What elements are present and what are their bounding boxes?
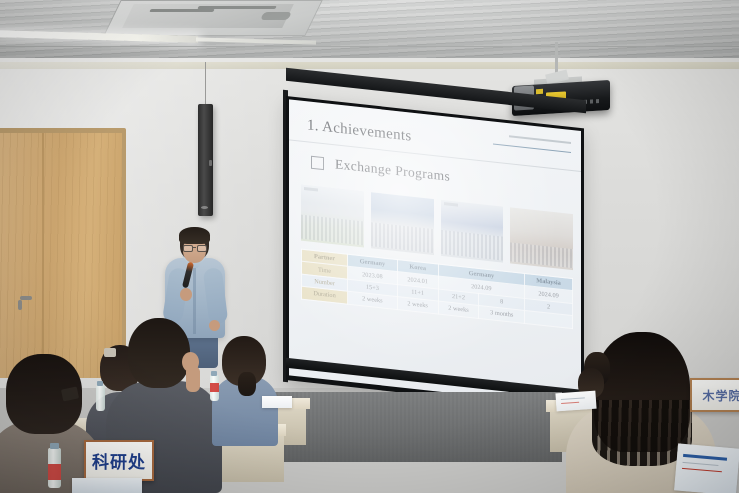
ac-vent — [149, 9, 214, 12]
glasses-bridge — [192, 247, 196, 248]
bottle-label — [48, 464, 61, 480]
slide-content: 1. Achievements Exchange Programs — [289, 99, 581, 407]
audience-forearm — [186, 366, 200, 392]
door-center-seam — [42, 133, 44, 378]
checkbox-icon — [311, 155, 324, 169]
ac-vent — [197, 6, 276, 9]
glasses-right-lens — [197, 245, 207, 252]
bottle-cap — [97, 381, 103, 386]
ceiling-seam — [0, 46, 739, 47]
document-paper[interactable] — [72, 478, 142, 493]
photo-group — [301, 215, 364, 245]
ac-vent — [260, 12, 292, 20]
slide-decoration-line — [509, 135, 571, 144]
slide-photo — [301, 185, 364, 248]
bottle-cap — [211, 371, 217, 376]
slide-title: 1. Achievements — [307, 117, 411, 145]
photo-group — [371, 223, 434, 253]
audience-head — [128, 318, 190, 388]
paper-line — [682, 462, 718, 466]
presenter-right-hand — [209, 320, 220, 331]
document-paper[interactable] — [555, 391, 596, 412]
brochure[interactable] — [674, 443, 739, 493]
door-handle-shaft — [18, 300, 22, 310]
photo-caption-tag — [444, 202, 458, 207]
photo-group — [441, 230, 504, 260]
paper-line — [561, 397, 585, 400]
paper-line — [561, 402, 579, 404]
bottle-label — [210, 383, 219, 392]
nameplate-label: 科研处 — [92, 448, 146, 473]
photo-group — [510, 242, 573, 268]
document-paper[interactable] — [262, 396, 292, 408]
glasses-icon — [183, 245, 205, 250]
hair-clip — [104, 348, 116, 357]
presenter-hair — [179, 227, 210, 244]
slide-accent-line — [493, 143, 571, 152]
speaker-logo — [201, 206, 208, 209]
slide-bullet: Exchange Programs — [311, 154, 450, 185]
speaker-cable — [205, 62, 206, 106]
door-handle[interactable] — [20, 296, 32, 300]
shirt-placket — [193, 262, 196, 334]
door-wood-grain — [0, 133, 122, 378]
slide-photo — [371, 192, 434, 255]
slide-bullet-label: Exchange Programs — [335, 156, 450, 185]
audience-ponytail — [238, 372, 256, 396]
paper-line — [682, 468, 722, 472]
bottle-cap — [50, 443, 59, 449]
nameplate-college: 木学院 — [690, 378, 739, 412]
water-bottle[interactable] — [96, 385, 105, 411]
slide-photo — [510, 207, 573, 270]
nameplate-label: 木学院 — [702, 387, 739, 404]
speaker-bracket — [209, 160, 212, 166]
presenter-left-hand — [180, 288, 192, 301]
nameplate-research-office: 科研处 — [84, 440, 154, 481]
classroom-presentation-photo: 1. Achievements Exchange Programs — [0, 0, 739, 493]
slide-photo — [441, 200, 504, 263]
brochure-band — [683, 454, 727, 461]
projector-indicator — [536, 89, 543, 94]
